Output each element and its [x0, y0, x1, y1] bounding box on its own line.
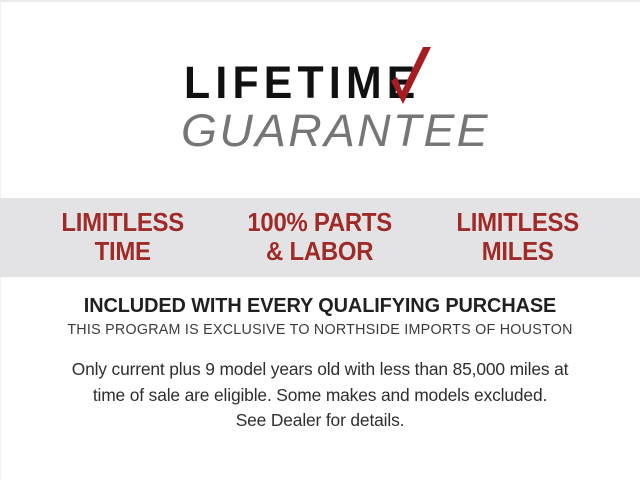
benefit-line1: LIMITLESS: [30, 209, 215, 238]
lifetime-guarantee-slide: LIFETIME GUARANTEE LIMITLESS TIME 100% P…: [0, 0, 640, 480]
benefit-limitless-time: LIMITLESS TIME: [30, 209, 215, 267]
benefit-line2: MILES: [425, 238, 610, 267]
copy-block: INCLUDED WITH EVERY QUALIFYING PURCHASE …: [0, 293, 640, 434]
benefit-line1: LIMITLESS: [425, 209, 610, 238]
benefit-line1: 100% PARTS: [227, 209, 412, 238]
top-edge-hairline: [0, 0, 640, 2]
logo-inner: LIFETIME GUARANTEE: [155, 52, 485, 162]
fineprint-disclaimer: Only current plus 9 model years old with…: [0, 357, 640, 434]
benefit-line2: & LABOR: [227, 238, 412, 267]
benefit-parts-and-labor: 100% PARTS & LABOR: [227, 209, 412, 267]
logo-word-lifetime: LIFETIME: [184, 60, 421, 105]
lifetime-guarantee-logo: LIFETIME GUARANTEE: [0, 52, 640, 162]
fineprint-line: Only current plus 9 model years old with…: [34, 357, 606, 383]
fineprint-line: time of sale are eligible. Some makes an…: [34, 383, 606, 409]
benefits-band: LIMITLESS TIME 100% PARTS & LABOR LIMITL…: [0, 198, 640, 277]
subheadline: THIS PROGRAM IS EXCLUSIVE TO NORTHSIDE I…: [6, 321, 633, 339]
logo-word-guarantee: GUARANTEE: [181, 108, 490, 153]
fineprint-line: See Dealer for details.: [34, 408, 606, 434]
benefit-limitless-miles: LIMITLESS MILES: [425, 209, 610, 267]
benefit-line2: TIME: [30, 238, 215, 267]
headline: INCLUDED WITH EVERY QUALIFYING PURCHASE: [10, 293, 631, 318]
